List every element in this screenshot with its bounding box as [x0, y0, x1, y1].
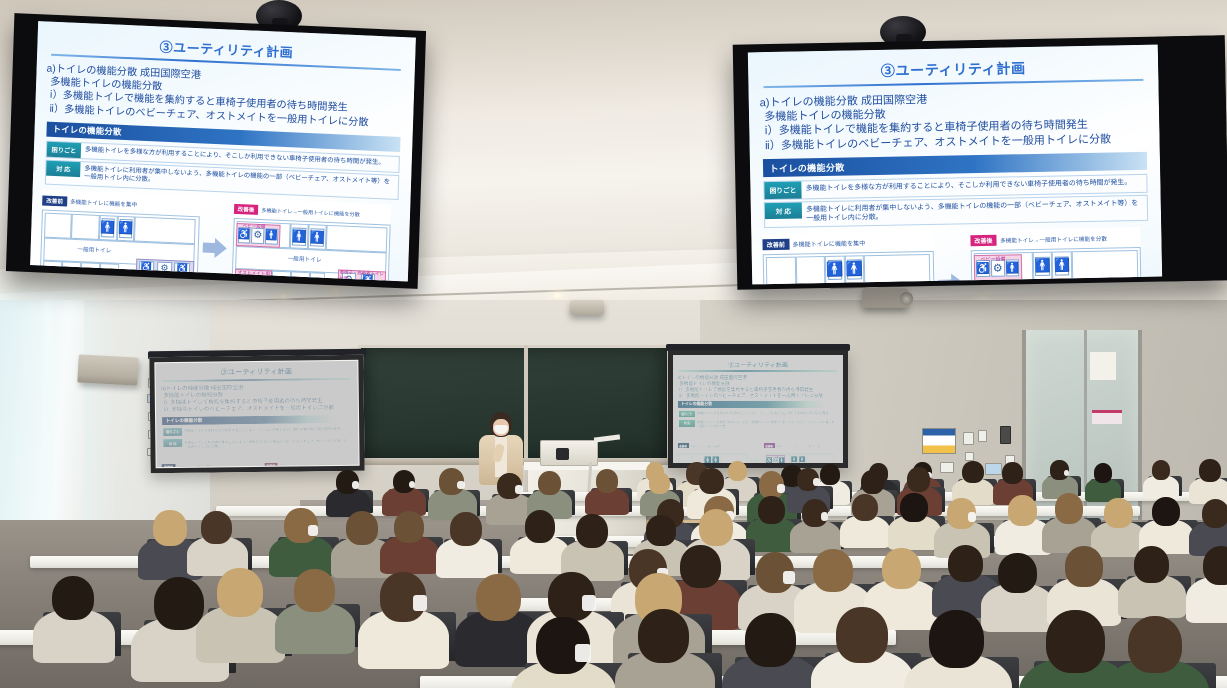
control-panel-dark[interactable] [1000, 426, 1011, 444]
audience-head [1128, 616, 1182, 673]
audience-head [1008, 495, 1037, 526]
toilet-pictogram-icon: 🚹 [119, 219, 133, 238]
wall-poster [922, 428, 956, 454]
floor-cell [795, 256, 825, 284]
floor-cell [326, 225, 388, 253]
floorplan-before: 🚹🚹♿⚙♿🚹♿🚹一般用トイレ多機能トイレ [39, 209, 199, 281]
row-badge: 対 応 [164, 439, 182, 447]
plan-before-badge: 改善前 [162, 464, 175, 467]
toilet-pictogram-icon: 🚹 [779, 457, 785, 463]
row-text: 多機能トイレに利用者が集中しないよう、多機能トイレの機能の一部（ベビーチェア、オ… [802, 195, 1148, 226]
slide-body: a)トイレの機能分散 成田国際空港多機能トイレの機能分散ⅰ）多機能トイレで機能を… [156, 383, 358, 414]
face-mask-icon [409, 481, 416, 489]
toilet-pictogram-icon: 🚹 [265, 228, 278, 244]
downlight [278, 292, 289, 299]
wheelchair-zone-label: 車椅子・高齢者トイレ分散 [339, 270, 388, 282]
audience-head [1094, 463, 1112, 483]
row-badge: 困りごと [764, 181, 801, 198]
lecture-hall-photo: ③ユーティリティ計画a)トイレの機能分散 成田国際空港多機能トイレの機能分散ⅰ）… [0, 0, 1227, 688]
plan-after-caption: 多機能トイレ→一般用トイレに機能を分散 [1000, 236, 1107, 244]
plan-before-caption: 多機能トイレに機能を集中 [690, 445, 720, 448]
toilet-pictogram-icon: 🚹 [1035, 256, 1050, 276]
audience-member [596, 469, 640, 520]
section-header: トイレの機能分散 [678, 401, 837, 407]
audience-head [813, 549, 853, 592]
slide-title: ③ユーティリティ計画 [673, 360, 843, 369]
toilet-pictogram-icon: 🚹 [847, 259, 862, 280]
transform-arrow-icon [202, 231, 229, 262]
table-row: 対 応多機能トイレに利用者が集中しないよう、多機能トイレの機能の一部（ベビーチェ… [678, 419, 837, 431]
face-mask-icon [308, 525, 318, 536]
row-text: 多機能トイレに利用者が集中しないよう、多機能トイレの機能の一部（ベビーチェア、オ… [695, 420, 837, 430]
row-badge: 対 応 [46, 160, 80, 176]
plan-before: 改善前多機能トイレに機能を集中🚹🚹♿⚙♿🚹♿🚹一般用トイレ多機能トイレ [678, 434, 749, 463]
slide-body: a)トイレの機能分散 成田国際空港多機能トイレの機能分散ⅰ）多機能トイレで機能を… [749, 88, 1160, 153]
downlight [330, 286, 341, 293]
problem-response-table: 困りごと多機能トイレを多様な方が利用することにより、そこしか利用できない車椅子使… [763, 174, 1148, 229]
floor-cell [864, 254, 931, 283]
audience-head [217, 568, 263, 617]
toilet-pictogram-icon: 🚹 [101, 218, 115, 237]
floorplan-comparison: 改善前多機能トイレに機能を集中🚹🚹♿⚙♿🚹♿🚹一般用トイレ多機能トイレ改善後多機… [162, 453, 354, 468]
audience-head [153, 510, 186, 545]
floorplan-comparison: 改善前多機能トイレに機能を集中🚹🚹♿⚙♿🚹♿🚹一般用トイレ多機能トイレ改善後多機… [39, 189, 400, 281]
plan-before: 改善前多機能トイレに機能を集中🚹🚹♿⚙♿🚹♿🚹一般用トイレ多機能トイレ [762, 231, 935, 285]
plan-after: 改善後多機能トイレ→一般用トイレに機能を分散♿⚙🚹🚹🚹♿⚙🚹🚹🚹⚙♿🚹ベビー設備… [764, 434, 835, 463]
audience-member [52, 576, 134, 672]
speaker-icon [77, 354, 138, 385]
table-row: 対 応多機能トイレに利用者が集中しないよう、多機能トイレの機能の一部（ベビーチェ… [764, 194, 1148, 228]
ceiling-tv-left: ③ユーティリティ計画a)トイレの機能分散 成田国際空港多機能トイレの機能分散ⅰ）… [6, 13, 426, 289]
audience-head [1199, 459, 1221, 482]
plan-before: 改善前多機能トイレに機能を集中🚹🚹♿⚙♿🚹♿🚹一般用トイレ多機能トイレ [39, 189, 200, 281]
audience-head [907, 467, 930, 492]
toilet-pictogram-icon: 🚹 [293, 277, 307, 282]
row-text: 多機能トイレに利用者が集中しないよう、多機能トイレの機能の一部（ベビーチェア、オ… [182, 437, 351, 451]
general-toilet-label: 一般用トイレ [287, 253, 321, 263]
projection-screen-left: ③ユーティリティ計画a)トイレの機能分散 成田国際空港多機能トイレの機能分散ⅰ）… [149, 355, 364, 474]
audience-head [1055, 493, 1084, 523]
audience-head [882, 548, 921, 590]
toilet-pictogram-icon: 🚹 [799, 456, 805, 463]
problem-response-table: 困りごと多機能トイレを多様な方が利用することにより、そこしか利用できない車椅子使… [678, 410, 837, 432]
audience-head [596, 469, 618, 493]
face-mask-icon [968, 512, 977, 522]
row-badge: 対 応 [679, 420, 694, 427]
control-panel[interactable] [978, 430, 987, 442]
toilet-pictogram-icon: 🚹 [274, 276, 288, 282]
plan-after-badge: 改善後 [233, 203, 258, 214]
audience-head [1202, 499, 1227, 529]
face-mask-icon [515, 485, 523, 494]
audience-head [1152, 497, 1180, 527]
face-mask-icon [777, 484, 785, 493]
toilet-pictogram-icon: ♿ [174, 262, 190, 276]
slide-body-line: ⅱ）多機能トイレのベビーチェア、オストメイトを一般用トイレに分散 [678, 393, 839, 399]
audience-head [646, 515, 675, 546]
floor-cell [272, 271, 292, 282]
audience-head [852, 494, 878, 521]
face-mask-icon [575, 644, 591, 662]
baby-zone-label: ベビー設備 [242, 224, 265, 231]
toilet-pictogram-icon: 🚹 [1054, 256, 1069, 276]
audience-head [1046, 610, 1105, 672]
baby-zone-label: ベビー設備 [768, 456, 778, 459]
floor-cell [806, 454, 833, 463]
tv-left-panel: ③ユーティリティ計画a)トイレの機能分散 成田国際空港多機能トイレの機能分散ⅰ）… [30, 21, 416, 281]
table-row: 対 応多機能トイレに利用者が集中しないよう、多機能トイレの機能の一部（ベビーチェ… [163, 436, 352, 452]
audience-head [394, 511, 424, 543]
audience-head [699, 468, 724, 494]
row-text: 多機能トイレを多様な方が利用することにより、そこしか利用できない車椅子使用者の待… [801, 175, 1146, 197]
toilet-pictogram-icon: ♿ [236, 274, 248, 281]
problem-response-table: 困りごと多機能トイレを多様な方が利用することにより、そこしか利用できない車椅子使… [163, 425, 352, 453]
screen-content: ③ユーティリティ計画a)トイレの機能分散 成田国際空港多機能トイレの機能分散ⅰ）… [155, 361, 358, 467]
tv-right-panel: ③ユーティリティ計画a)トイレの機能分散 成田国際空港多機能トイレの機能分散ⅰ）… [748, 45, 1162, 285]
title-divider [163, 378, 350, 382]
audience-head [538, 471, 561, 495]
audience-head [900, 493, 927, 522]
tv-bezel [1158, 35, 1227, 281]
plan-after-caption: 多機能トイレ→一般用トイレに機能を分散 [261, 208, 360, 218]
audience-head [450, 512, 482, 546]
ostomate-zone-label: オストメイト用 [238, 270, 270, 277]
plan-after-caption: 多機能トイレ→一般用トイレに機能を分散 [776, 446, 820, 448]
floor-cell [71, 214, 99, 240]
audience-head [929, 610, 984, 669]
floorplan-after: ♿⚙🚹🚹🚹♿⚙🚹🚹🚹⚙♿🚹ベビー設備オストメイト用車椅子・高齢者トイレ分散一般用… [970, 247, 1142, 285]
floor-cell [766, 257, 796, 285]
audience-head [948, 545, 983, 583]
projector-icon [570, 300, 604, 315]
control-panel[interactable] [965, 452, 974, 461]
audience-head [861, 470, 884, 494]
audience-head [962, 461, 983, 484]
audience-head [1134, 546, 1169, 583]
toilet-pictogram-icon: 🚹 [261, 275, 271, 281]
section-header: トイレの機能分散 [763, 152, 1147, 177]
floor-cell [134, 216, 196, 244]
toilet-pictogram-icon: ⚙ [249, 275, 261, 282]
floorplan-after: ♿⚙🚹🚹🚹♿⚙🚹🚹🚹⚙♿🚹ベビー設備オストメイト用車椅子・高齢者トイレ分散一般用… [231, 217, 391, 281]
face-mask-icon [413, 595, 427, 611]
plan-after-badge: 改善後 [970, 234, 997, 246]
face-mask-icon [783, 571, 794, 584]
toilet-pictogram-icon: 🚹 [292, 227, 306, 245]
plan-before-caption: 多機能トイレに機能を集中 [792, 241, 865, 248]
row-badge: 対 応 [765, 202, 802, 219]
projection-screen-right: ③ユーティリティ計画a)トイレの機能分散 成田国際空港多機能トイレの機能分散ⅰ）… [668, 350, 848, 468]
audience-head [476, 574, 521, 622]
plan-before-badge: 改善前 [678, 443, 689, 448]
audience-head [576, 514, 608, 548]
toilet-pictogram-icon: 🚹 [1006, 259, 1020, 276]
toilet-pictogram-icon: 🚹 [827, 259, 842, 280]
row-badge: 困りごと [679, 411, 694, 418]
screen-content: ③ユーティリティ計画a)トイレの機能分散 成田国際空港多機能トイレの機能分散ⅰ）… [673, 355, 843, 463]
row-badge: 困りごと [47, 141, 81, 157]
slide-title: ③ユーティリティ計画 [155, 366, 357, 378]
audience-member [1128, 616, 1227, 688]
audience-head [346, 511, 378, 545]
face-mask-icon [813, 478, 820, 485]
audience-head [154, 577, 204, 630]
audience-head [294, 569, 335, 612]
floorplan-comparison: 改善前多機能トイレに機能を集中🚹🚹♿⚙♿🚹♿🚹一般用トイレ多機能トイレ改善後多機… [678, 434, 839, 463]
face-mask-icon [821, 512, 829, 521]
projector-lens-icon [900, 292, 913, 305]
toilet-pictogram-icon: 🚹 [791, 456, 797, 463]
audience-head [1065, 546, 1103, 586]
av-lens-icon [556, 448, 569, 460]
audience-head [1104, 498, 1133, 528]
floor-cell [44, 212, 72, 238]
general-toilet-label: 一般用トイレ [77, 244, 111, 254]
audience-head [201, 511, 232, 544]
floor-cell [309, 272, 325, 281]
row-text: 多機能トイレを多様な方が利用することにより、そこしか利用できない車椅子使用者の待… [182, 426, 351, 436]
row-text: 多機能トイレを多様な方が利用することにより、そこしか利用できない車椅子使用者の待… [695, 411, 837, 417]
plan-before-badge: 改善前 [762, 238, 789, 250]
audience-head [998, 553, 1036, 594]
face-mask-icon [582, 595, 596, 611]
door-sign [1092, 410, 1122, 424]
section-header: トイレの機能分散 [162, 415, 351, 425]
table-row: 困りごと多機能トイレを多様な方が利用することにより、そこしか利用できない車椅子使… [678, 410, 837, 419]
ceiling-tv-right: ③ユーティリティ計画a)トイレの機能分散 成田国際空港多機能トイレの機能分散ⅰ）… [733, 35, 1227, 289]
slide-body-line: ⅱ）多機能トイレのベビーチェア、オストメイトを一般用トイレに分散 [161, 405, 352, 414]
baby-zone-label: ベビー設備 [980, 256, 1005, 263]
audience-head [638, 609, 689, 663]
audience-head [1002, 462, 1023, 484]
plan-before-badge: 改善前 [42, 195, 67, 206]
face-mask-icon [457, 481, 464, 489]
audience-head [699, 509, 734, 546]
curtain [40, 300, 54, 550]
downlight [552, 292, 563, 299]
slide-body: a)トイレの機能分散 成田国際空港多機能トイレの機能分散ⅰ）多機能トイレで機能を… [673, 375, 843, 399]
plan-before-caption: 多機能トイレに機能を集中 [70, 199, 137, 208]
row-badge: 困りごと [164, 428, 182, 436]
door-notice [1090, 352, 1116, 380]
audience-head [649, 472, 670, 494]
floorplan-comparison: 改善前多機能トイレに機能を集中🚹🚹♿⚙♿🚹♿🚹一般用トイレ多機能トイレ改善後多機… [762, 227, 1152, 285]
floorplan-after: ♿⚙🚹🚹🚹♿⚙🚹🚹🚹⚙♿🚹ベビー設備オストメイト用車椅子・高齢者トイレ分散一般用… [764, 453, 835, 464]
plan-after: 改善後多機能トイレ→一般用トイレに機能を分散♿⚙🚹🚹🚹♿⚙🚹🚹🚹⚙♿🚹ベビー設備… [231, 197, 392, 281]
audience-head [1152, 460, 1171, 480]
toilet-pictogram-icon: 🚹 [310, 228, 324, 246]
audience-member [929, 610, 1037, 688]
slide-body: a)トイレの機能分散 成田国際空港多機能トイレの機能分散ⅰ）多機能トイレで機能を… [35, 62, 414, 131]
audience-head [745, 613, 796, 667]
title-divider [679, 370, 836, 372]
audience-head [836, 607, 888, 663]
face-mask-icon [352, 481, 359, 489]
plan-after: 改善後多機能トイレ→一般用トイレに機能を分散♿⚙🚹🚹🚹♿⚙🚹🚹🚹⚙♿🚹ベビー設備… [970, 227, 1143, 285]
control-panel[interactable] [963, 432, 974, 445]
floorplan-before: 🚹🚹♿⚙♿🚹♿🚹一般用トイレ多機能トイレ [763, 251, 935, 285]
plan-after-badge: 改善後 [764, 443, 775, 448]
plan-before: 改善前多機能トイレに機能を集中🚹🚹♿⚙♿🚹♿🚹一般用トイレ多機能トイレ [162, 454, 247, 467]
audience-head [1203, 546, 1227, 585]
face-mask-icon [1064, 470, 1070, 476]
toilet-pictogram-icon: ⚙ [156, 261, 172, 275]
audience-head [52, 576, 94, 621]
audience-head [525, 510, 556, 543]
floor-cell [1071, 250, 1138, 279]
toilet-pictogram-icon: ♿ [139, 261, 155, 275]
transform-arrow-icon [938, 267, 967, 284]
